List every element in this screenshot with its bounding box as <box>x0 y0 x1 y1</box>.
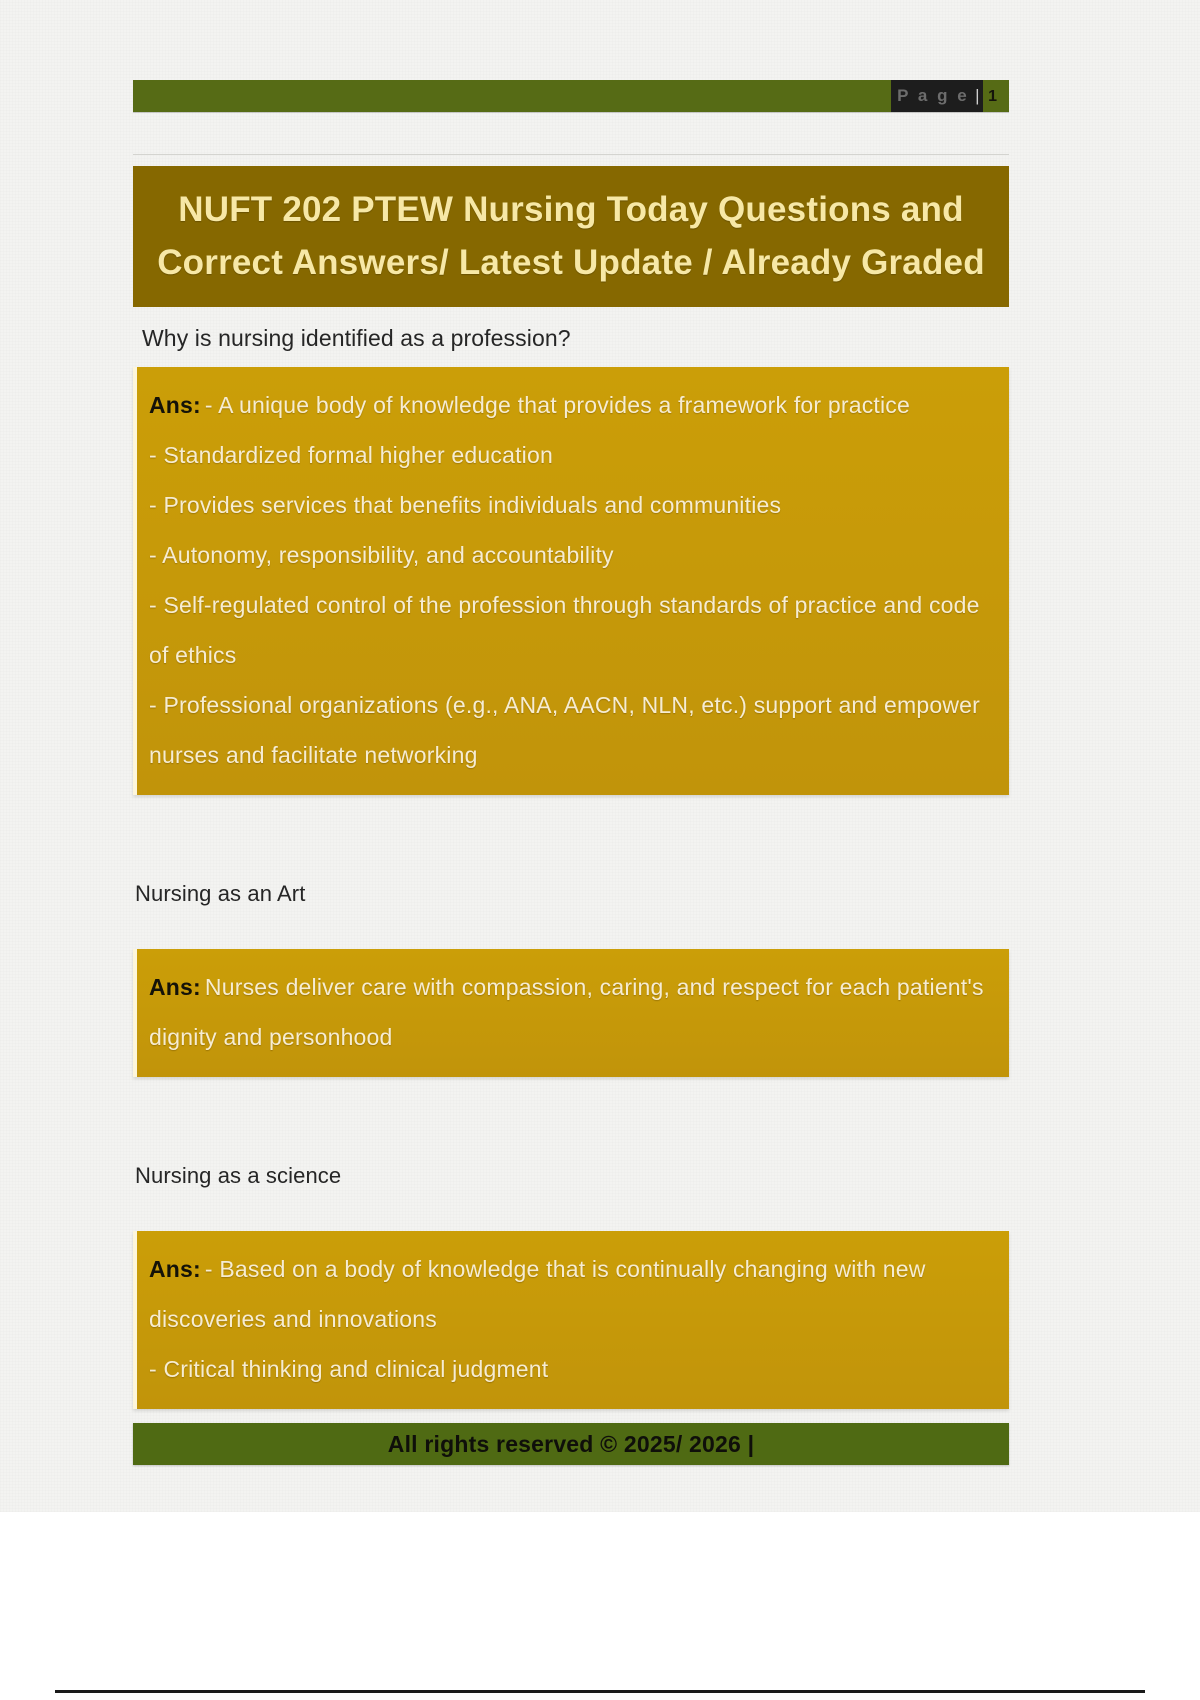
spacer <box>133 795 1009 879</box>
page-separator: | <box>975 80 983 112</box>
question-prompt-2: Nursing as an Art <box>133 879 1009 909</box>
ans-tag-3: Ans: <box>149 1256 201 1282</box>
spacer <box>133 1409 1009 1423</box>
page-header-bar: P a g e | 1 <box>133 80 1009 112</box>
answer-line: - Self-regulated control of the professi… <box>149 580 993 680</box>
bottom-divider <box>55 1690 1145 1693</box>
ans-tag-2: Ans: <box>149 974 201 1000</box>
ans-tag-1: Ans: <box>149 392 201 418</box>
answer-text: - Based on a body of knowledge that is c… <box>149 1256 926 1332</box>
header-divider <box>133 154 1009 155</box>
content-column: P a g e | 1 NUFT 202 PTEW Nursing Today … <box>133 0 1009 1465</box>
below-page-area <box>0 1512 1200 1700</box>
answer-line: Ans:Nurses deliver care with compassion,… <box>149 962 993 1062</box>
page-footer-bar: All rights reserved © 2025/ 2026 | <box>133 1423 1009 1465</box>
answer-line: - Professional organizations (e.g., ANA,… <box>149 680 993 780</box>
answer-block-2: Ans:Nurses deliver care with compassion,… <box>133 949 1009 1077</box>
document-page: P a g e | 1 NUFT 202 PTEW Nursing Today … <box>0 0 1200 1512</box>
answer-line: Ans:- Based on a body of knowledge that … <box>149 1244 993 1344</box>
spacer <box>133 909 1009 949</box>
answer-line: - Autonomy, responsibility, and accounta… <box>149 530 993 580</box>
answer-text: Nurses deliver care with compassion, car… <box>149 974 984 1050</box>
spacer <box>133 1191 1009 1231</box>
page-marker: P a g e | 1 <box>891 80 1007 112</box>
question-prompt-1: Why is nursing identified as a professio… <box>133 307 1009 353</box>
answer-block-3: Ans:- Based on a body of knowledge that … <box>133 1231 1009 1409</box>
page-title: NUFT 202 PTEW Nursing Today Questions an… <box>133 166 1009 307</box>
answer-text: - A unique body of knowledge that provid… <box>205 392 910 418</box>
spacer <box>133 1077 1009 1161</box>
spacer <box>133 353 1009 367</box>
answer-block-1: Ans:- A unique body of knowledge that pr… <box>133 367 1009 795</box>
answer-line: - Standardized formal higher education <box>149 430 993 480</box>
answer-line: Ans:- A unique body of knowledge that pr… <box>149 380 993 430</box>
page-label: P a g e <box>891 80 975 112</box>
question-prompt-3: Nursing as a science <box>133 1161 1009 1191</box>
page-number: 1 <box>983 81 1007 113</box>
answer-line: - Critical thinking and clinical judgmen… <box>149 1344 993 1394</box>
answer-line: - Provides services that benefits indivi… <box>149 480 993 530</box>
